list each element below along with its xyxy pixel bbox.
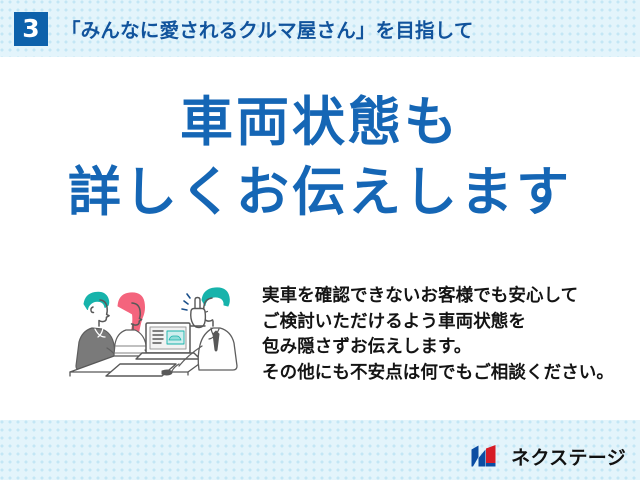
- header: 3 「みんなに愛されるクルマ屋さん」を目指して: [0, 0, 640, 57]
- laptop-illustration: [136, 323, 200, 359]
- step-number-badge: 3: [14, 12, 48, 46]
- brand-name: ネクステージ: [511, 443, 626, 470]
- staff-hair: [202, 288, 229, 306]
- consultation-illustration-svg: [62, 276, 252, 394]
- body-copy-line-1: 実車を確認できないお客様でも安心して: [262, 284, 622, 310]
- headline: 車両状態も 詳しくお伝えします: [0, 96, 640, 219]
- headline-line-1: 車両状態も: [0, 96, 640, 149]
- body-copy-line-2: ご検討いただけるよう車両状態を: [262, 310, 622, 336]
- body-copy-line-3: 包み隠さずお伝えします。: [262, 335, 622, 361]
- headline-line-2: 詳しくお伝えします: [0, 166, 640, 219]
- nextage-n-logo-icon: [470, 444, 504, 468]
- header-title: 「みんなに愛されるクルマ屋さん」を目指して: [61, 14, 474, 43]
- body-copy-line-4: その他にも不安点は何でもご相談ください。: [262, 361, 622, 387]
- speech-sparkle-icon: [182, 294, 190, 310]
- body-copy: 実車を確認できないお客様でも安心して ご検討いただけるよう車両状態を 包み隠さず…: [262, 284, 622, 386]
- consultation-illustration: [62, 276, 252, 394]
- brand-logo: ネクステージ: [470, 441, 626, 471]
- male-customer-hair: [84, 292, 109, 309]
- promo-banner: 3 「みんなに愛されるクルマ屋さん」を目指して 車両状態も 詳しくお伝えします: [0, 0, 640, 480]
